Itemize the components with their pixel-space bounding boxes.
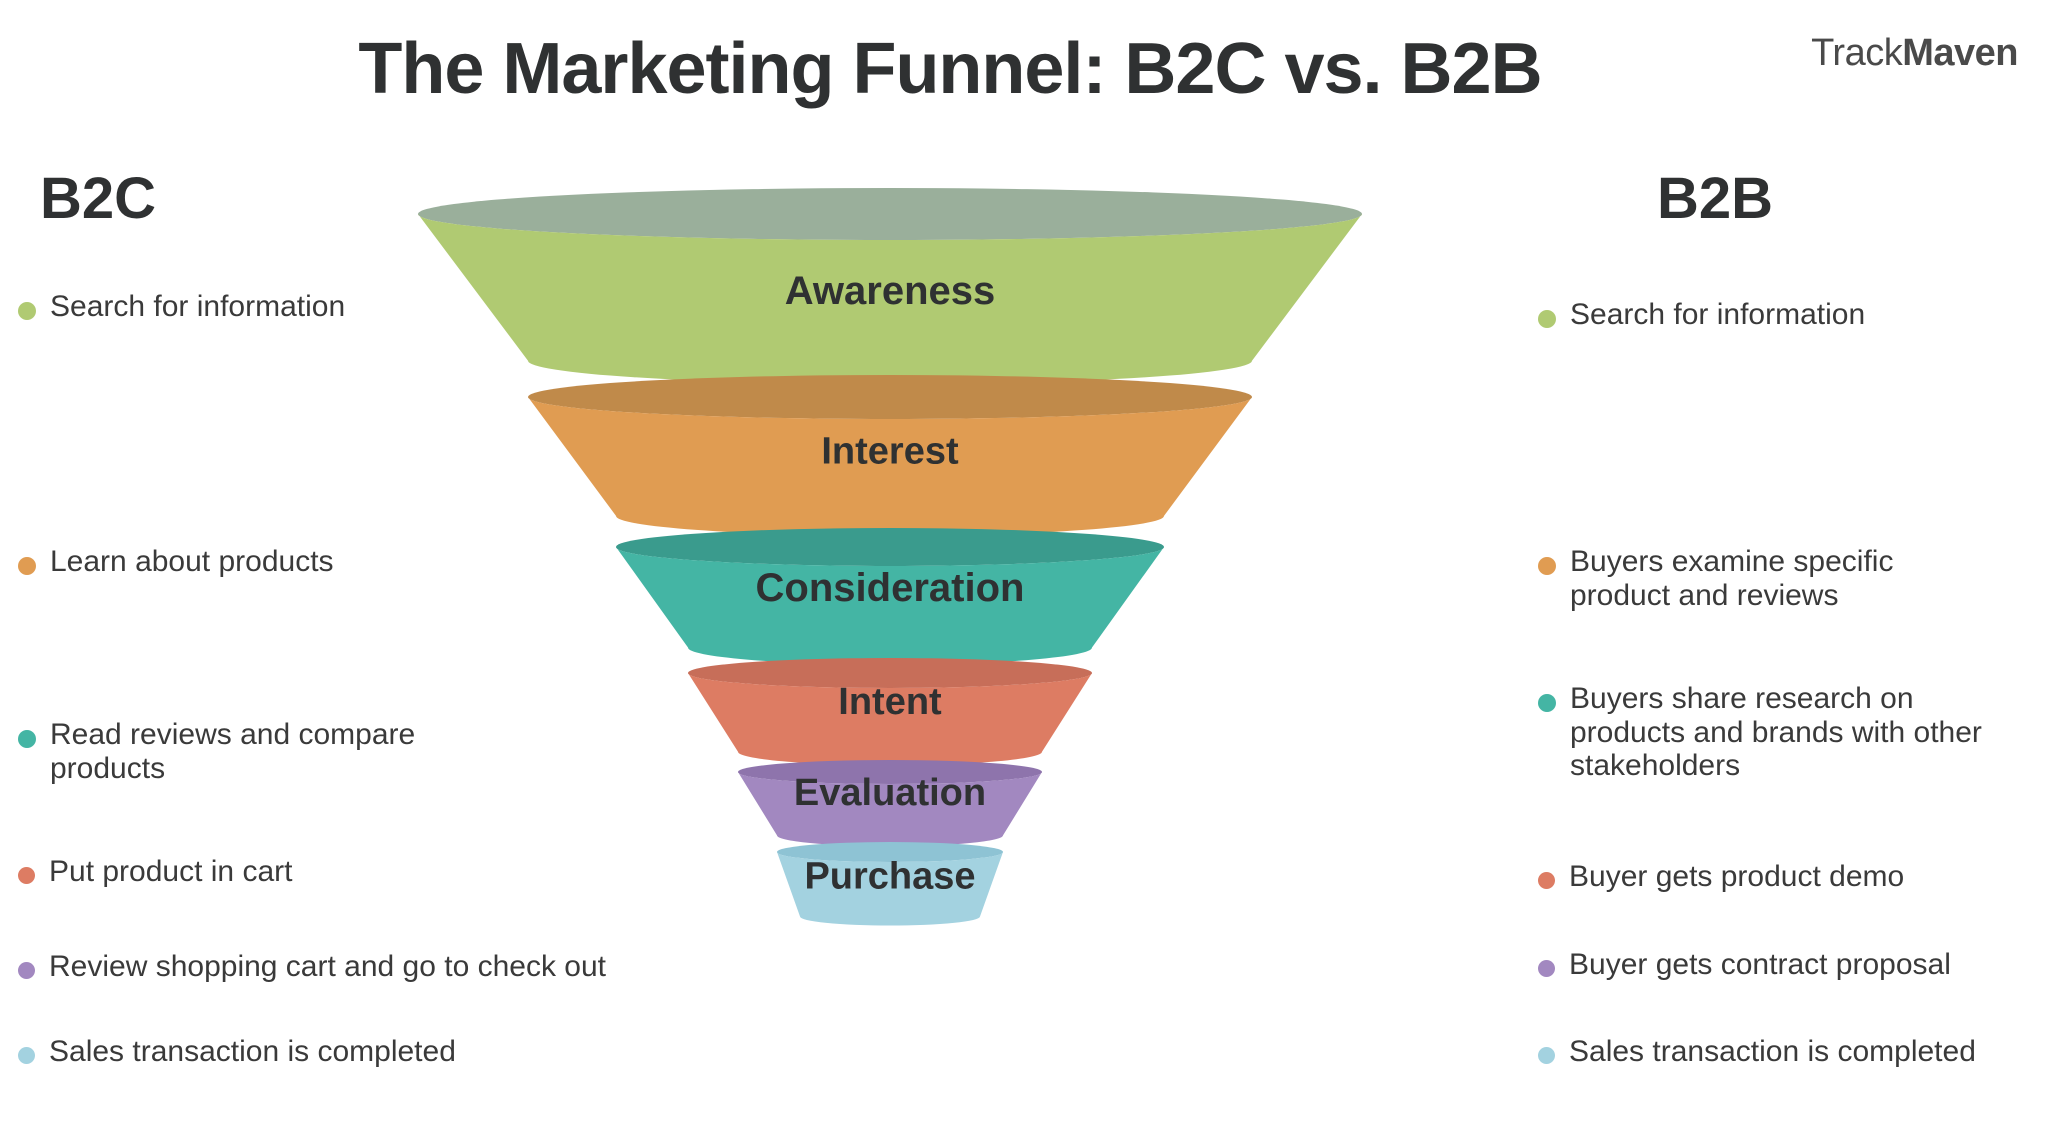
bullet-dot-icon <box>18 302 36 320</box>
list-item-label: Buyer gets contract proposal <box>1569 948 1951 982</box>
bullet-dot-icon <box>1538 557 1556 575</box>
funnel-diagram: AwarenessInterestConsiderationIntentEval… <box>280 150 1500 1110</box>
infographic-canvas: The Marketing Funnel: B2C vs. B2B TrackM… <box>0 0 2048 1121</box>
page-title: The Marketing Funnel: B2C vs. B2B <box>0 28 1900 110</box>
bullet-dot-icon <box>18 557 36 575</box>
funnel-segment-evaluation[interactable]: Evaluation <box>738 760 1042 846</box>
bullet-dot-icon <box>1538 310 1556 328</box>
list-item-label: Search for information <box>1570 298 1865 332</box>
list-item: Buyers examine specific product and revi… <box>1538 545 1968 612</box>
funnel-segment-cap <box>616 528 1164 566</box>
bullet-dot-icon <box>1538 872 1555 889</box>
funnel-segment-consideration[interactable]: Consideration <box>616 528 1164 665</box>
list-item-label: Sales transaction is completed <box>1569 1035 1976 1069</box>
funnel-segment-cap <box>418 188 1362 240</box>
bullet-dot-icon <box>1538 694 1556 712</box>
funnel-segment-cap <box>528 375 1252 419</box>
bullet-dot-icon <box>1538 960 1555 977</box>
list-item: Buyer gets contract proposal <box>1538 948 2008 982</box>
funnel-stage-label: Consideration <box>756 566 1025 610</box>
column-heading-b2b: B2B <box>1657 165 1773 232</box>
bullet-dot-icon <box>18 1047 35 1064</box>
logo-maven-text: Maven <box>1902 32 2018 74</box>
funnel-stage-label: Evaluation <box>794 772 986 814</box>
funnel-segment-awareness[interactable]: Awareness <box>418 188 1362 384</box>
list-item: Buyer gets product demo <box>1538 860 1988 894</box>
bullet-dot-icon <box>18 867 35 884</box>
funnel-stage-label: Intent <box>838 681 942 723</box>
bullet-dot-icon <box>18 962 35 979</box>
funnel-svg: AwarenessInterestConsiderationIntentEval… <box>280 150 1500 1110</box>
funnel-stage-label: Awareness <box>785 269 996 313</box>
funnel-segment-purchase[interactable]: Purchase <box>777 842 1003 926</box>
funnel-segment-intent[interactable]: Intent <box>688 658 1092 765</box>
logo-track-text: Track <box>1811 32 1902 74</box>
list-item-label: Put product in cart <box>49 855 292 889</box>
funnel-stage-label: Purchase <box>804 855 975 897</box>
funnel-segment-interest[interactable]: Interest <box>528 375 1252 536</box>
trackmaven-logo: TrackMaven <box>1811 32 2018 75</box>
list-item-label: Buyers share research on products and br… <box>1570 682 1988 783</box>
list-item-label: Buyer gets product demo <box>1569 860 1904 894</box>
list-item: Buyers share research on products and br… <box>1538 682 1988 783</box>
list-item-label: Buyers examine specific product and revi… <box>1570 545 1968 612</box>
funnel-stage-label: Interest <box>821 431 959 473</box>
column-heading-b2c: B2C <box>40 165 156 232</box>
list-item: Search for information <box>1538 298 1978 332</box>
list-item: Sales transaction is completed <box>1538 1035 2038 1069</box>
bullet-dot-icon <box>18 730 36 748</box>
bullet-dot-icon <box>1538 1047 1555 1064</box>
